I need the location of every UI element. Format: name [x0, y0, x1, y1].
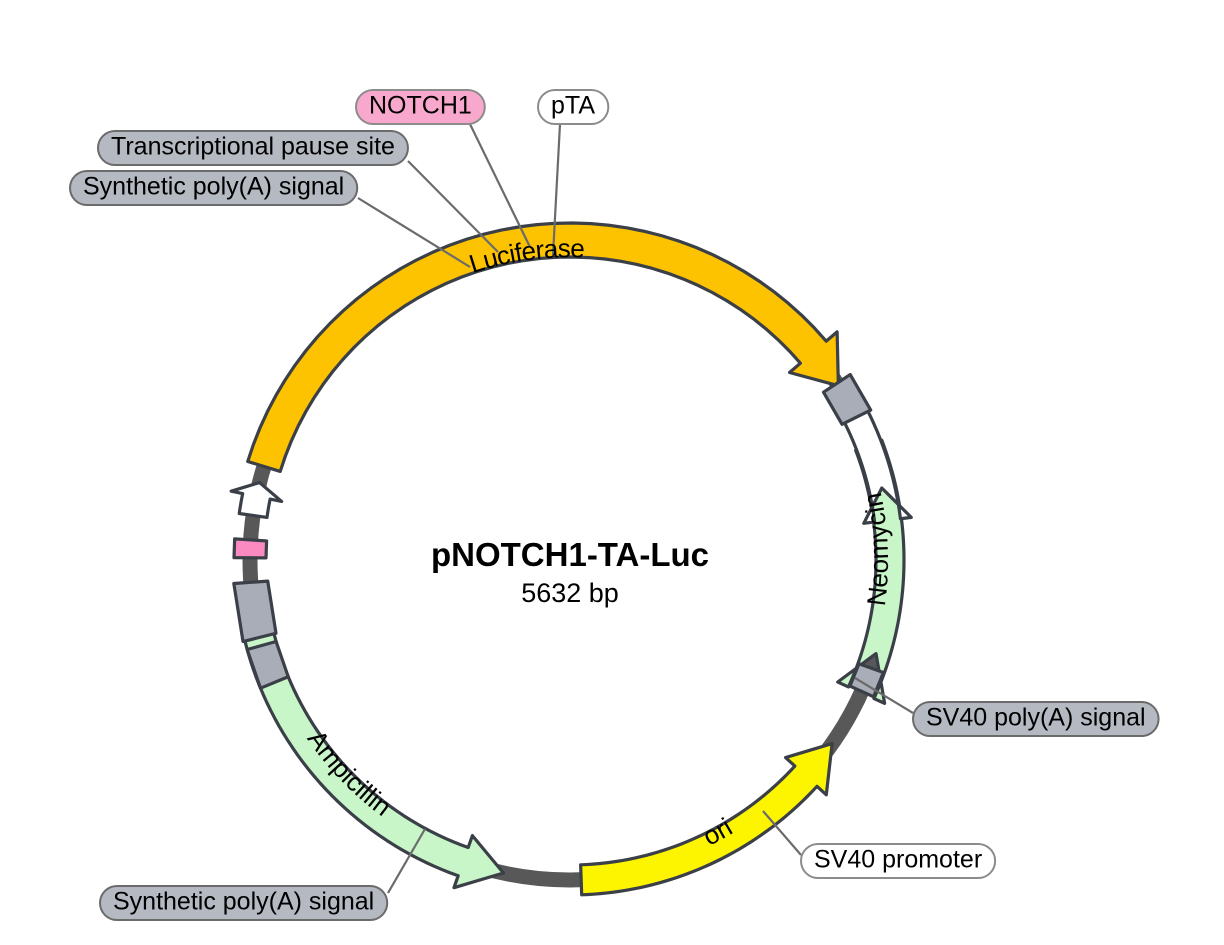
- callout-pta[interactable]: pTA: [538, 90, 608, 124]
- callout-transcriptional-pause-site-text: Transcriptional pause site: [111, 133, 395, 161]
- callout-sv40-polya-signal-text: SV40 poly(A) signal: [926, 704, 1146, 732]
- callout-synthetic-polya-bottom-text: Synthetic poly(A) signal: [113, 888, 374, 916]
- feature-box-transcriptional-pause-site[interactable]: [234, 581, 276, 641]
- feature-shape-ori[interactable]: [581, 744, 832, 895]
- feature-shape-pta[interactable]: [231, 483, 281, 518]
- plasmid-map-root: NOTCH1pTATranscriptional pause siteSynth…: [0, 0, 1224, 945]
- callout-sv40-promoter-text: SV40 promoter: [814, 846, 982, 874]
- plasmid-name: pNOTCH1-TA-Luc: [431, 536, 709, 573]
- leader-callout-synthetic-polya-top: [358, 198, 470, 267]
- callout-synthetic-polya-top-text: Synthetic poly(A) signal: [83, 173, 344, 201]
- callout-labels-group: NOTCH1pTATranscriptional pause siteSynth…: [70, 90, 1159, 920]
- callout-pta-text: pTA: [551, 92, 595, 120]
- callout-sv40-promoter[interactable]: SV40 promoter: [801, 844, 995, 878]
- arc-feature-pta[interactable]: [231, 483, 281, 518]
- callout-sv40-polya-signal[interactable]: SV40 poly(A) signal: [913, 702, 1159, 736]
- callout-notch1-text: NOTCH1: [369, 92, 472, 120]
- plasmid-diagram: NOTCH1pTATranscriptional pause siteSynth…: [0, 0, 1224, 945]
- arc-feature-ori[interactable]: [581, 744, 832, 895]
- plasmid-center-info: pNOTCH1-TA-Luc 5632 bp: [431, 536, 709, 608]
- arc-label-neomycin: Neomycin: [857, 490, 894, 607]
- leader-callout-notch1: [468, 120, 530, 247]
- callout-synthetic-polya-bottom[interactable]: Synthetic poly(A) signal: [100, 886, 387, 920]
- plasmid-size: 5632 bp: [521, 578, 619, 608]
- callout-synthetic-polya-top[interactable]: Synthetic poly(A) signal: [70, 171, 357, 205]
- callout-notch1[interactable]: NOTCH1: [356, 90, 485, 124]
- feature-box-notch1[interactable]: [234, 539, 267, 558]
- callout-transcriptional-pause-site[interactable]: Transcriptional pause site: [98, 131, 408, 165]
